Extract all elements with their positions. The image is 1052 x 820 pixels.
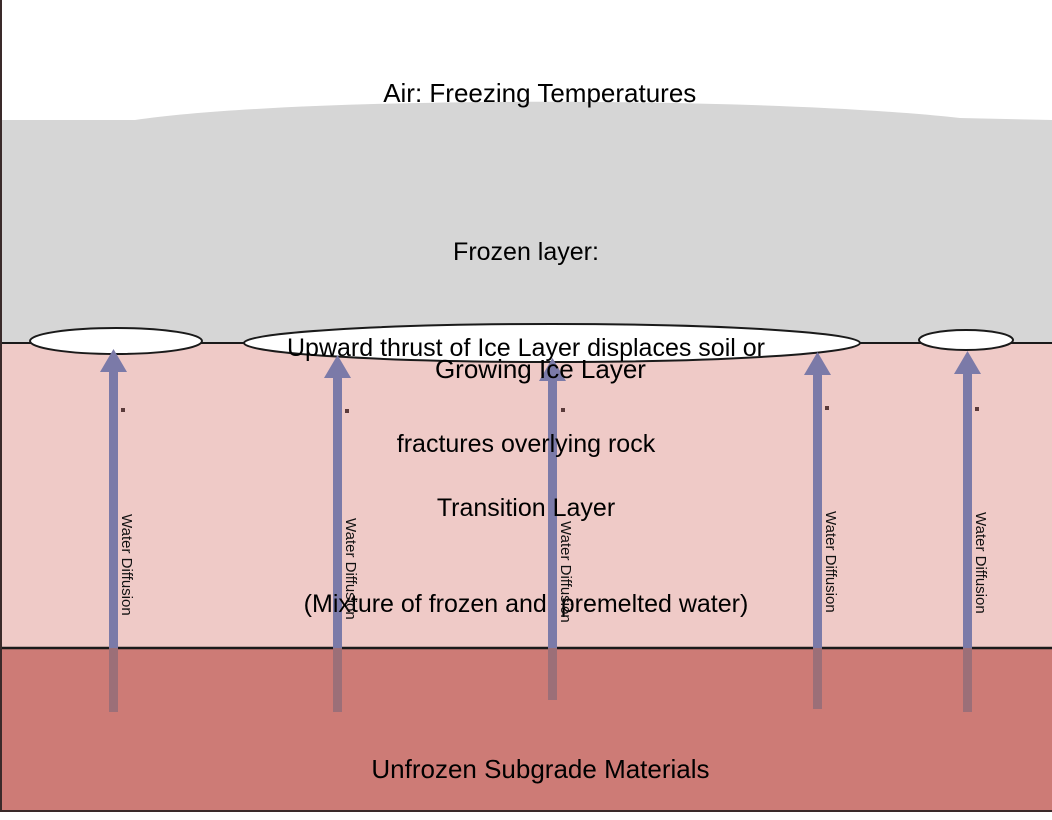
soil-particle-dot-1	[121, 408, 125, 412]
ice-lens-left	[30, 328, 202, 354]
soil-particle-dot-5	[975, 407, 979, 411]
ice-lens-right	[919, 330, 1013, 350]
soil-particle-dot-4	[825, 406, 829, 410]
frozen-layer-region	[0, 102, 1052, 345]
diagram-canvas: Air: Freezing Temperatures Frozen layer:…	[0, 0, 1052, 820]
soil-particle-dot-2	[345, 409, 349, 413]
ice-lens-center	[244, 324, 860, 362]
transition-layer-region	[0, 343, 1052, 649]
frost-heave-diagram	[0, 0, 1052, 820]
soil-particle-dot-3	[561, 408, 565, 412]
bottom-margin	[0, 812, 1052, 820]
subgrade-layer-region	[0, 648, 1052, 812]
